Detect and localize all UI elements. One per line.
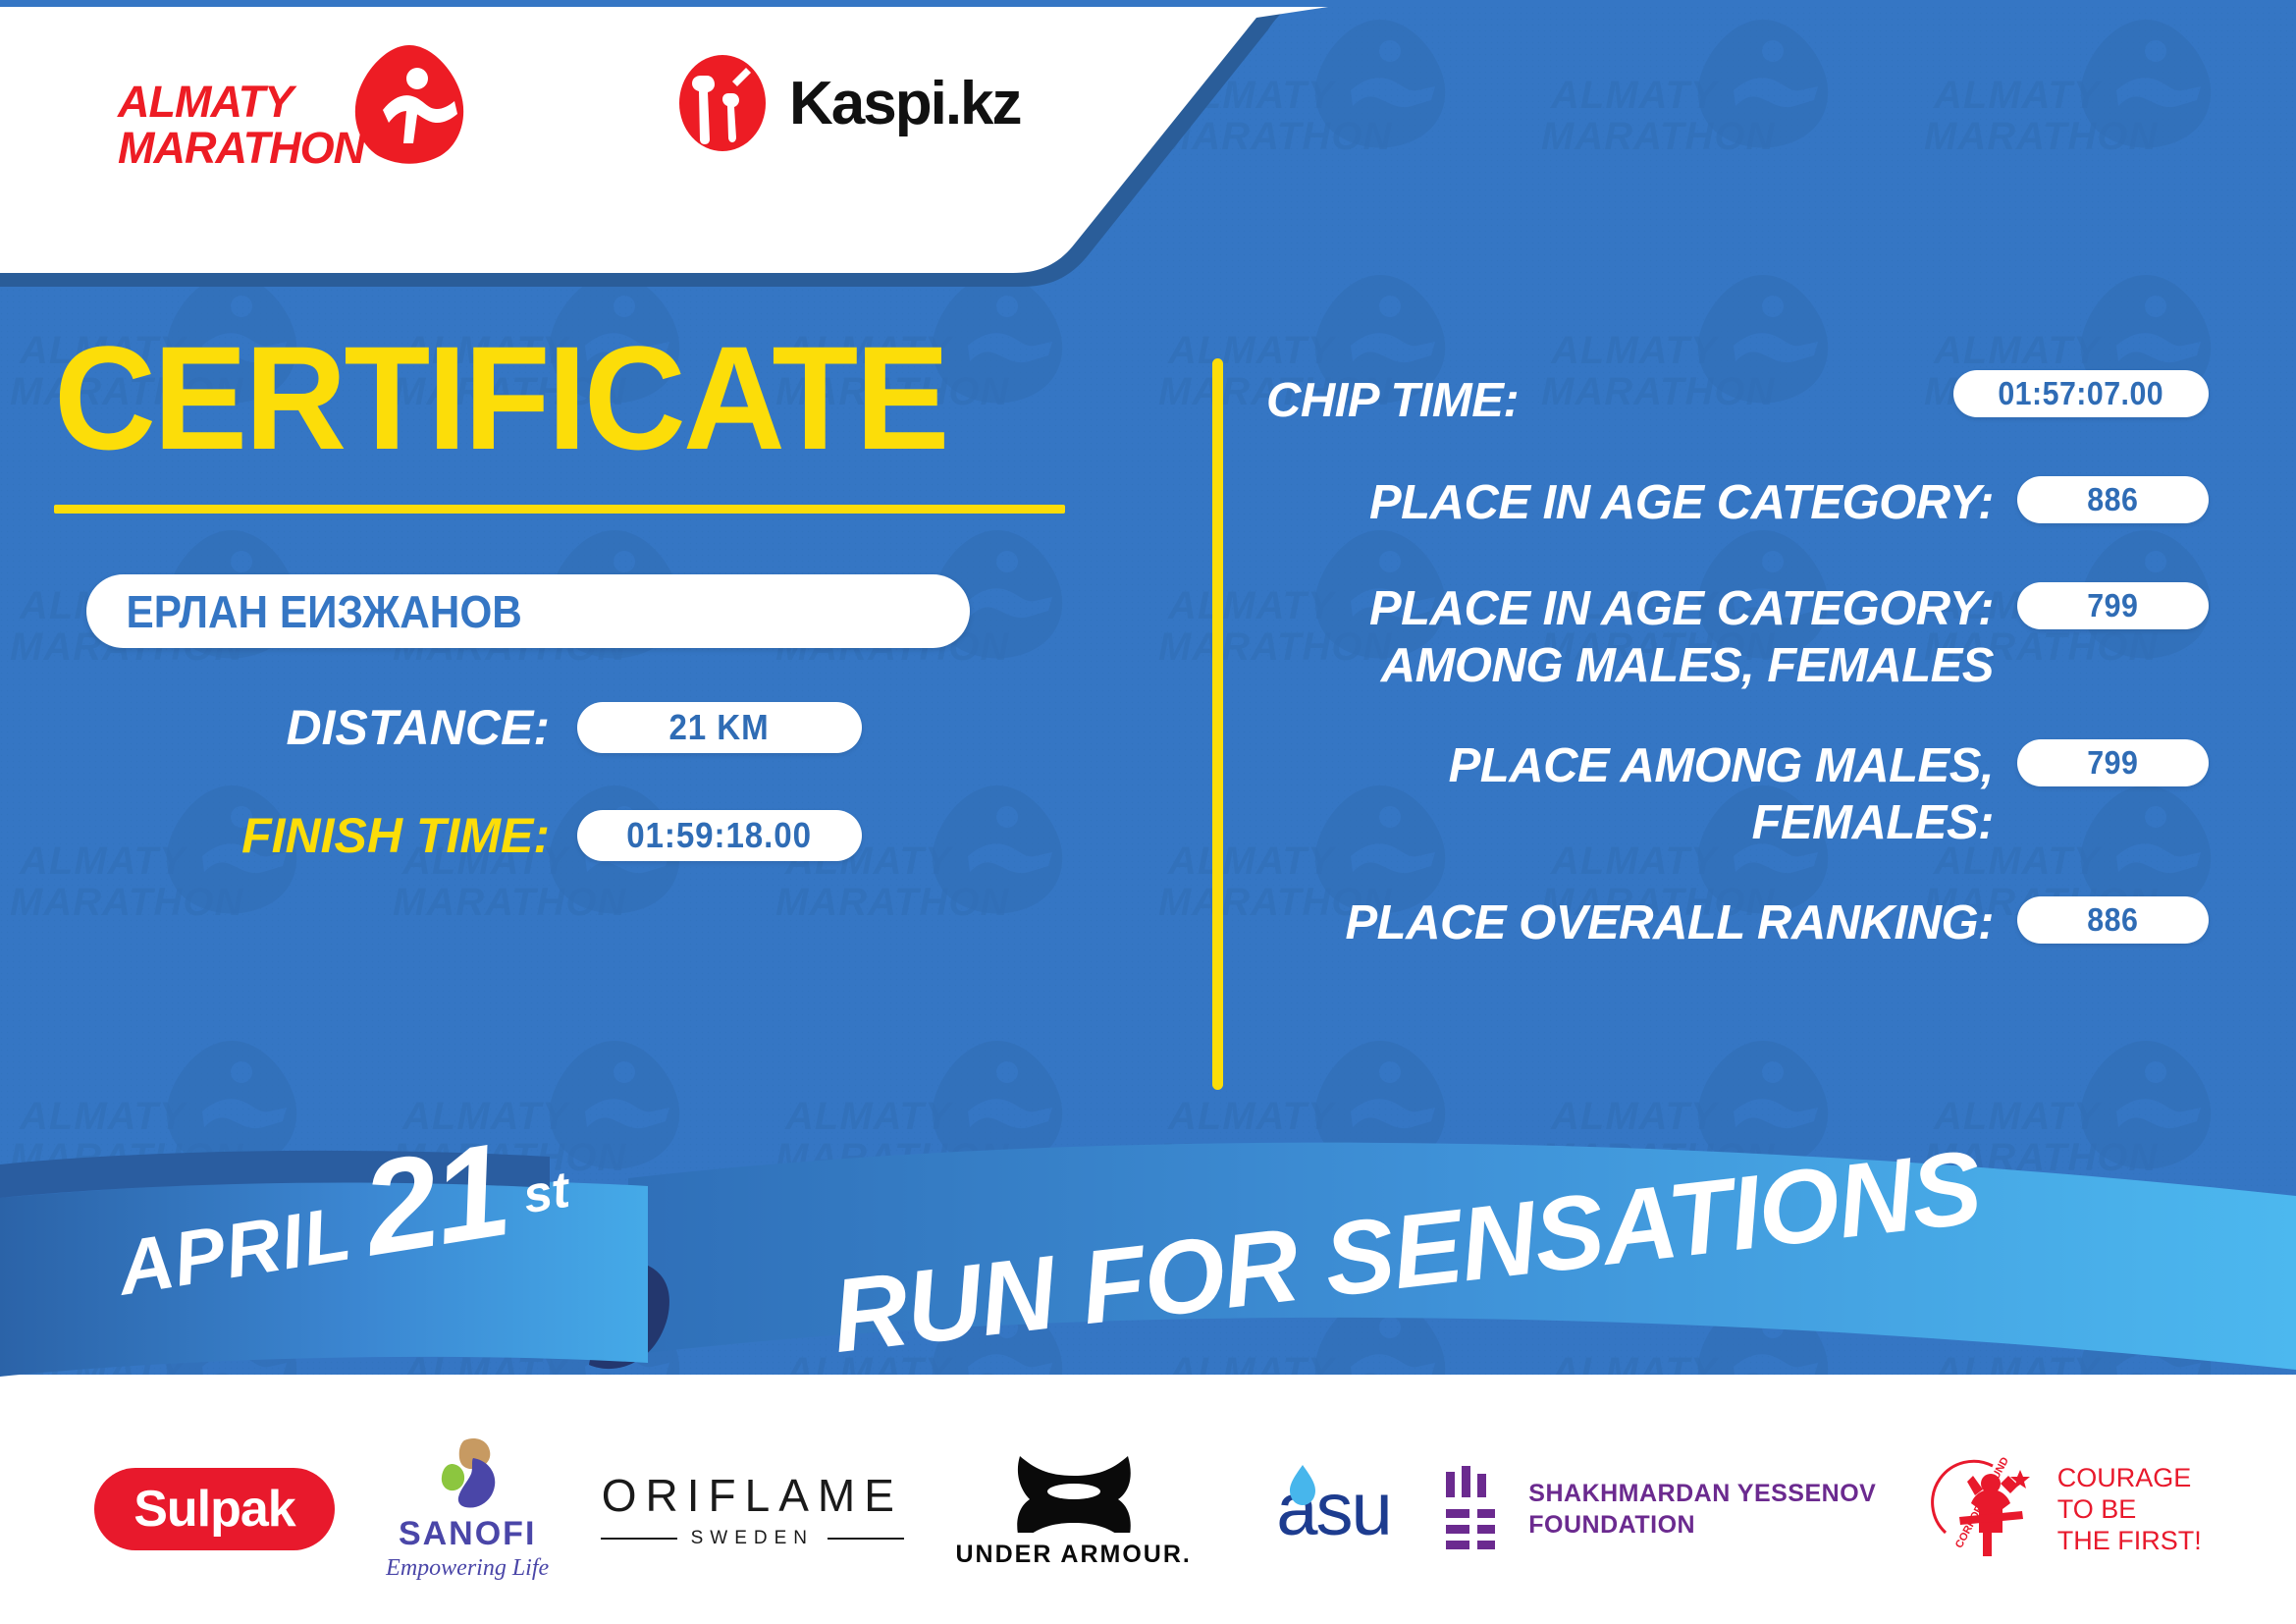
stat-place-age-category-gender: PLACE IN AGE CATEGORY: AMONG MALES, FEMA… <box>1266 580 2209 694</box>
sponsor-courage-fund: CORPORATE FUND COURAGE TO BE THE FIRST! <box>1928 1456 2202 1562</box>
place-age-category-value: 886 <box>2087 481 2138 518</box>
almaty-marathon-logo: ALMATY MARATHON <box>118 41 442 169</box>
sponsor-bar: Sulpak SANOFI Empowering Life ORIFLAME S… <box>0 1394 2296 1624</box>
yessenov-wordmark: SHAKHMARDAN YESSENOV FOUNDATION <box>1528 1478 1876 1541</box>
runner-droplet-icon <box>348 41 471 164</box>
sponsor-sulpak: Sulpak <box>94 1468 335 1550</box>
athlete-name-field: ЕРЛАН ЕИЗЖАНОВ <box>86 574 970 648</box>
stat-chip-time: CHIP TIME: 01:57:07.00 <box>1266 368 2209 431</box>
certificate-canvas: ALMATY MARATHON ALMATY MARATHON <box>0 0 2296 1624</box>
sponsor-under-armour: UNDER ARMOUR. <box>955 1450 1191 1569</box>
stat-place-overall: PLACE OVERALL RANKING: 886 <box>1266 894 2209 957</box>
title-underline <box>54 505 1065 514</box>
sanofi-wordmark: SANOFI <box>399 1515 536 1553</box>
asu-droplet-icon <box>1286 1463 1319 1508</box>
place-overall-value-field: 886 <box>2017 896 2209 944</box>
chip-time-value-field: 01:57:07.00 <box>1953 370 2209 417</box>
under-armour-wordmark: UNDER ARMOUR. <box>955 1541 1191 1569</box>
sulpak-wordmark: Sulpak <box>94 1468 335 1550</box>
oriflame-rule-left <box>601 1538 677 1540</box>
finish-time-row: FINISH TIME: 01:59:18.00 <box>0 807 1168 864</box>
place-age-category-value-field: 886 <box>2017 476 2209 523</box>
sponsor-oriflame: ORIFLAME SWEDEN <box>601 1469 904 1549</box>
sanofi-bird-icon <box>425 1436 509 1513</box>
sanofi-tagline: Empowering Life <box>386 1555 549 1582</box>
chip-time-label: CHIP TIME: <box>1266 368 1930 429</box>
courage-runner-icon: CORPORATE FUND <box>1928 1456 2044 1562</box>
place-age-category-gender-value: 799 <box>2087 587 2138 624</box>
distance-value-field: 21 KM <box>577 702 862 753</box>
distance-row: DISTANCE: 21 KM <box>0 699 1168 756</box>
stat-place-age-category: PLACE IN AGE CATEGORY: 886 <box>1266 474 2209 537</box>
oriflame-rule-right <box>828 1538 904 1540</box>
header-logo-row: ALMATY MARATHON Kaspi.kz <box>0 0 1178 226</box>
place-age-category-gender-label: PLACE IN AGE CATEGORY: AMONG MALES, FEMA… <box>1266 580 1994 694</box>
place-overall-value: 886 <box>2087 901 2138 939</box>
page-title: CERTIFICATE <box>54 324 1124 471</box>
almaty-marathon-wordmark: ALMATY MARATHON <box>118 79 364 171</box>
place-overall-label: PLACE OVERALL RANKING: <box>1266 894 1994 951</box>
distance-value: 21 KM <box>669 707 770 748</box>
finish-time-value: 01:59:18.00 <box>627 815 813 856</box>
stat-place-among-gender: PLACE AMONG MALES, FEMALES: 799 <box>1266 737 2209 851</box>
chip-time-value: 01:57:07.00 <box>1999 375 2164 412</box>
oriflame-tagline: SWEDEN <box>691 1528 814 1549</box>
finish-time-value-field: 01:59:18.00 <box>577 810 862 861</box>
place-age-category-gender-value-field: 799 <box>2017 582 2209 629</box>
athlete-name-value: ЕРЛАН ЕИЗЖАНОВ <box>86 585 522 638</box>
oriflame-wordmark: ORIFLAME <box>602 1469 903 1522</box>
event-day: 21 <box>355 1131 513 1268</box>
kaspi-wordmark: Kaspi.kz <box>789 69 1021 138</box>
sponsor-asu: asu <box>1243 1467 1391 1552</box>
column-divider <box>1212 358 1223 1090</box>
sponsor-sanofi: SANOFI Empowering Life <box>386 1436 549 1582</box>
distance-label: DISTANCE: <box>0 699 550 756</box>
yessenov-bars-icon <box>1442 1466 1505 1552</box>
place-among-gender-value: 799 <box>2087 744 2138 782</box>
oriflame-subline: SWEDEN <box>601 1528 904 1549</box>
kaspi-logo: Kaspi.kz <box>677 54 1021 152</box>
finish-time-label: FINISH TIME: <box>0 807 550 864</box>
kaspi-person-icon <box>677 54 768 152</box>
logo-line-2: MARATHON <box>118 123 364 173</box>
sponsor-yessenov-foundation: SHAKHMARDAN YESSENOV FOUNDATION <box>1442 1466 1876 1552</box>
place-among-gender-label: PLACE AMONG MALES, FEMALES: <box>1266 737 1994 851</box>
under-armour-icon <box>1010 1450 1138 1533</box>
place-among-gender-value-field: 799 <box>2017 739 2209 786</box>
results-column: CHIP TIME: 01:57:07.00 PLACE IN AGE CATE… <box>1266 368 2209 1001</box>
courage-tagline: COURAGE TO BE THE FIRST! <box>2057 1462 2202 1556</box>
left-column: CERTIFICATE ЕРЛАН ЕИЗЖАНОВ DISTANCE: 21 … <box>0 324 1168 864</box>
logo-line-1: ALMATY <box>118 77 293 127</box>
place-age-category-label: PLACE IN AGE CATEGORY: <box>1266 474 1994 531</box>
